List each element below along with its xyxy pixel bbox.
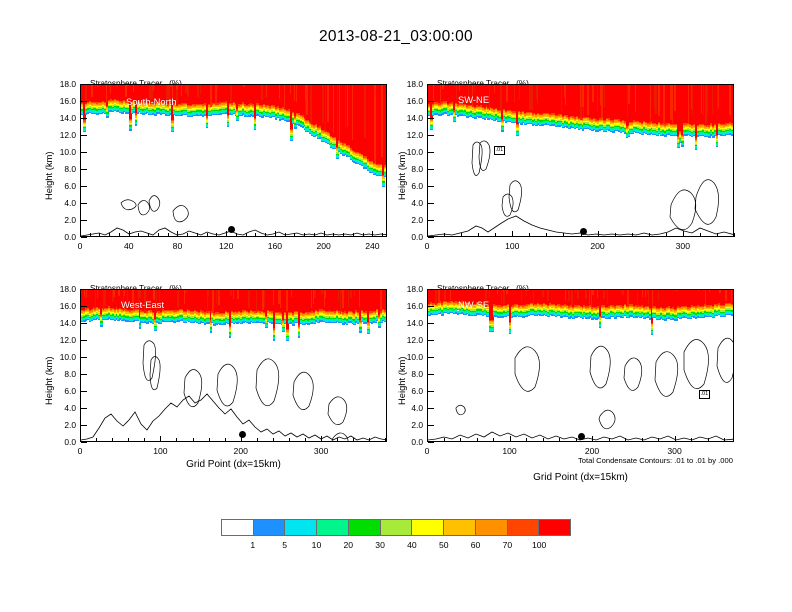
plot-area-south-north[interactable]: South-North [80,84,387,237]
tracer-gradient-band [386,172,387,173]
location-marker-south-north [228,226,235,233]
tracer-gradient-band [733,135,734,136]
y-axis-title-sw-ne: Height (km) [396,152,407,200]
tracer-gradient-band [733,128,734,129]
tracer-gradient-band [386,178,387,179]
tracer-core [733,85,734,124]
tracer-gradient-band [386,171,387,172]
plot-area-sw-ne[interactable]: SW-NE .01 [427,84,734,237]
tracer-gradient-band [386,175,387,176]
condensate-contours-south-north [81,85,387,237]
tracer-gradient-band [733,134,734,135]
tracer-column [733,85,734,237]
tracer-gradient-band [733,131,734,132]
tracer-gradient-band [386,168,387,169]
tracer-core [386,85,387,167]
panel-tag-sw-ne: SW-NE [458,94,489,105]
tracer-gradient-band [386,170,387,171]
tracer-gradient-band [733,124,734,125]
tracer-column [386,85,387,237]
plot-area-west-east[interactable]: West-East [80,289,387,442]
tracer-gradient-band [386,174,387,175]
tracer-gradient-band [733,125,734,126]
page-title: 2013-08-21_03:00:00 [0,28,792,46]
contour-value-label: .01 [494,146,505,155]
tracer-gradient-band [733,132,734,133]
condensate-contours-sw-ne [428,85,734,237]
tracer-gradient-band [386,167,387,168]
tracer-gradient-band [386,176,387,177]
panel-tag-south-north: South-North [126,96,177,107]
y-axis-title-south-north: Height (km) [43,152,54,200]
tracer-gradient-band [733,129,734,130]
tracer-gradient-band [733,127,734,128]
